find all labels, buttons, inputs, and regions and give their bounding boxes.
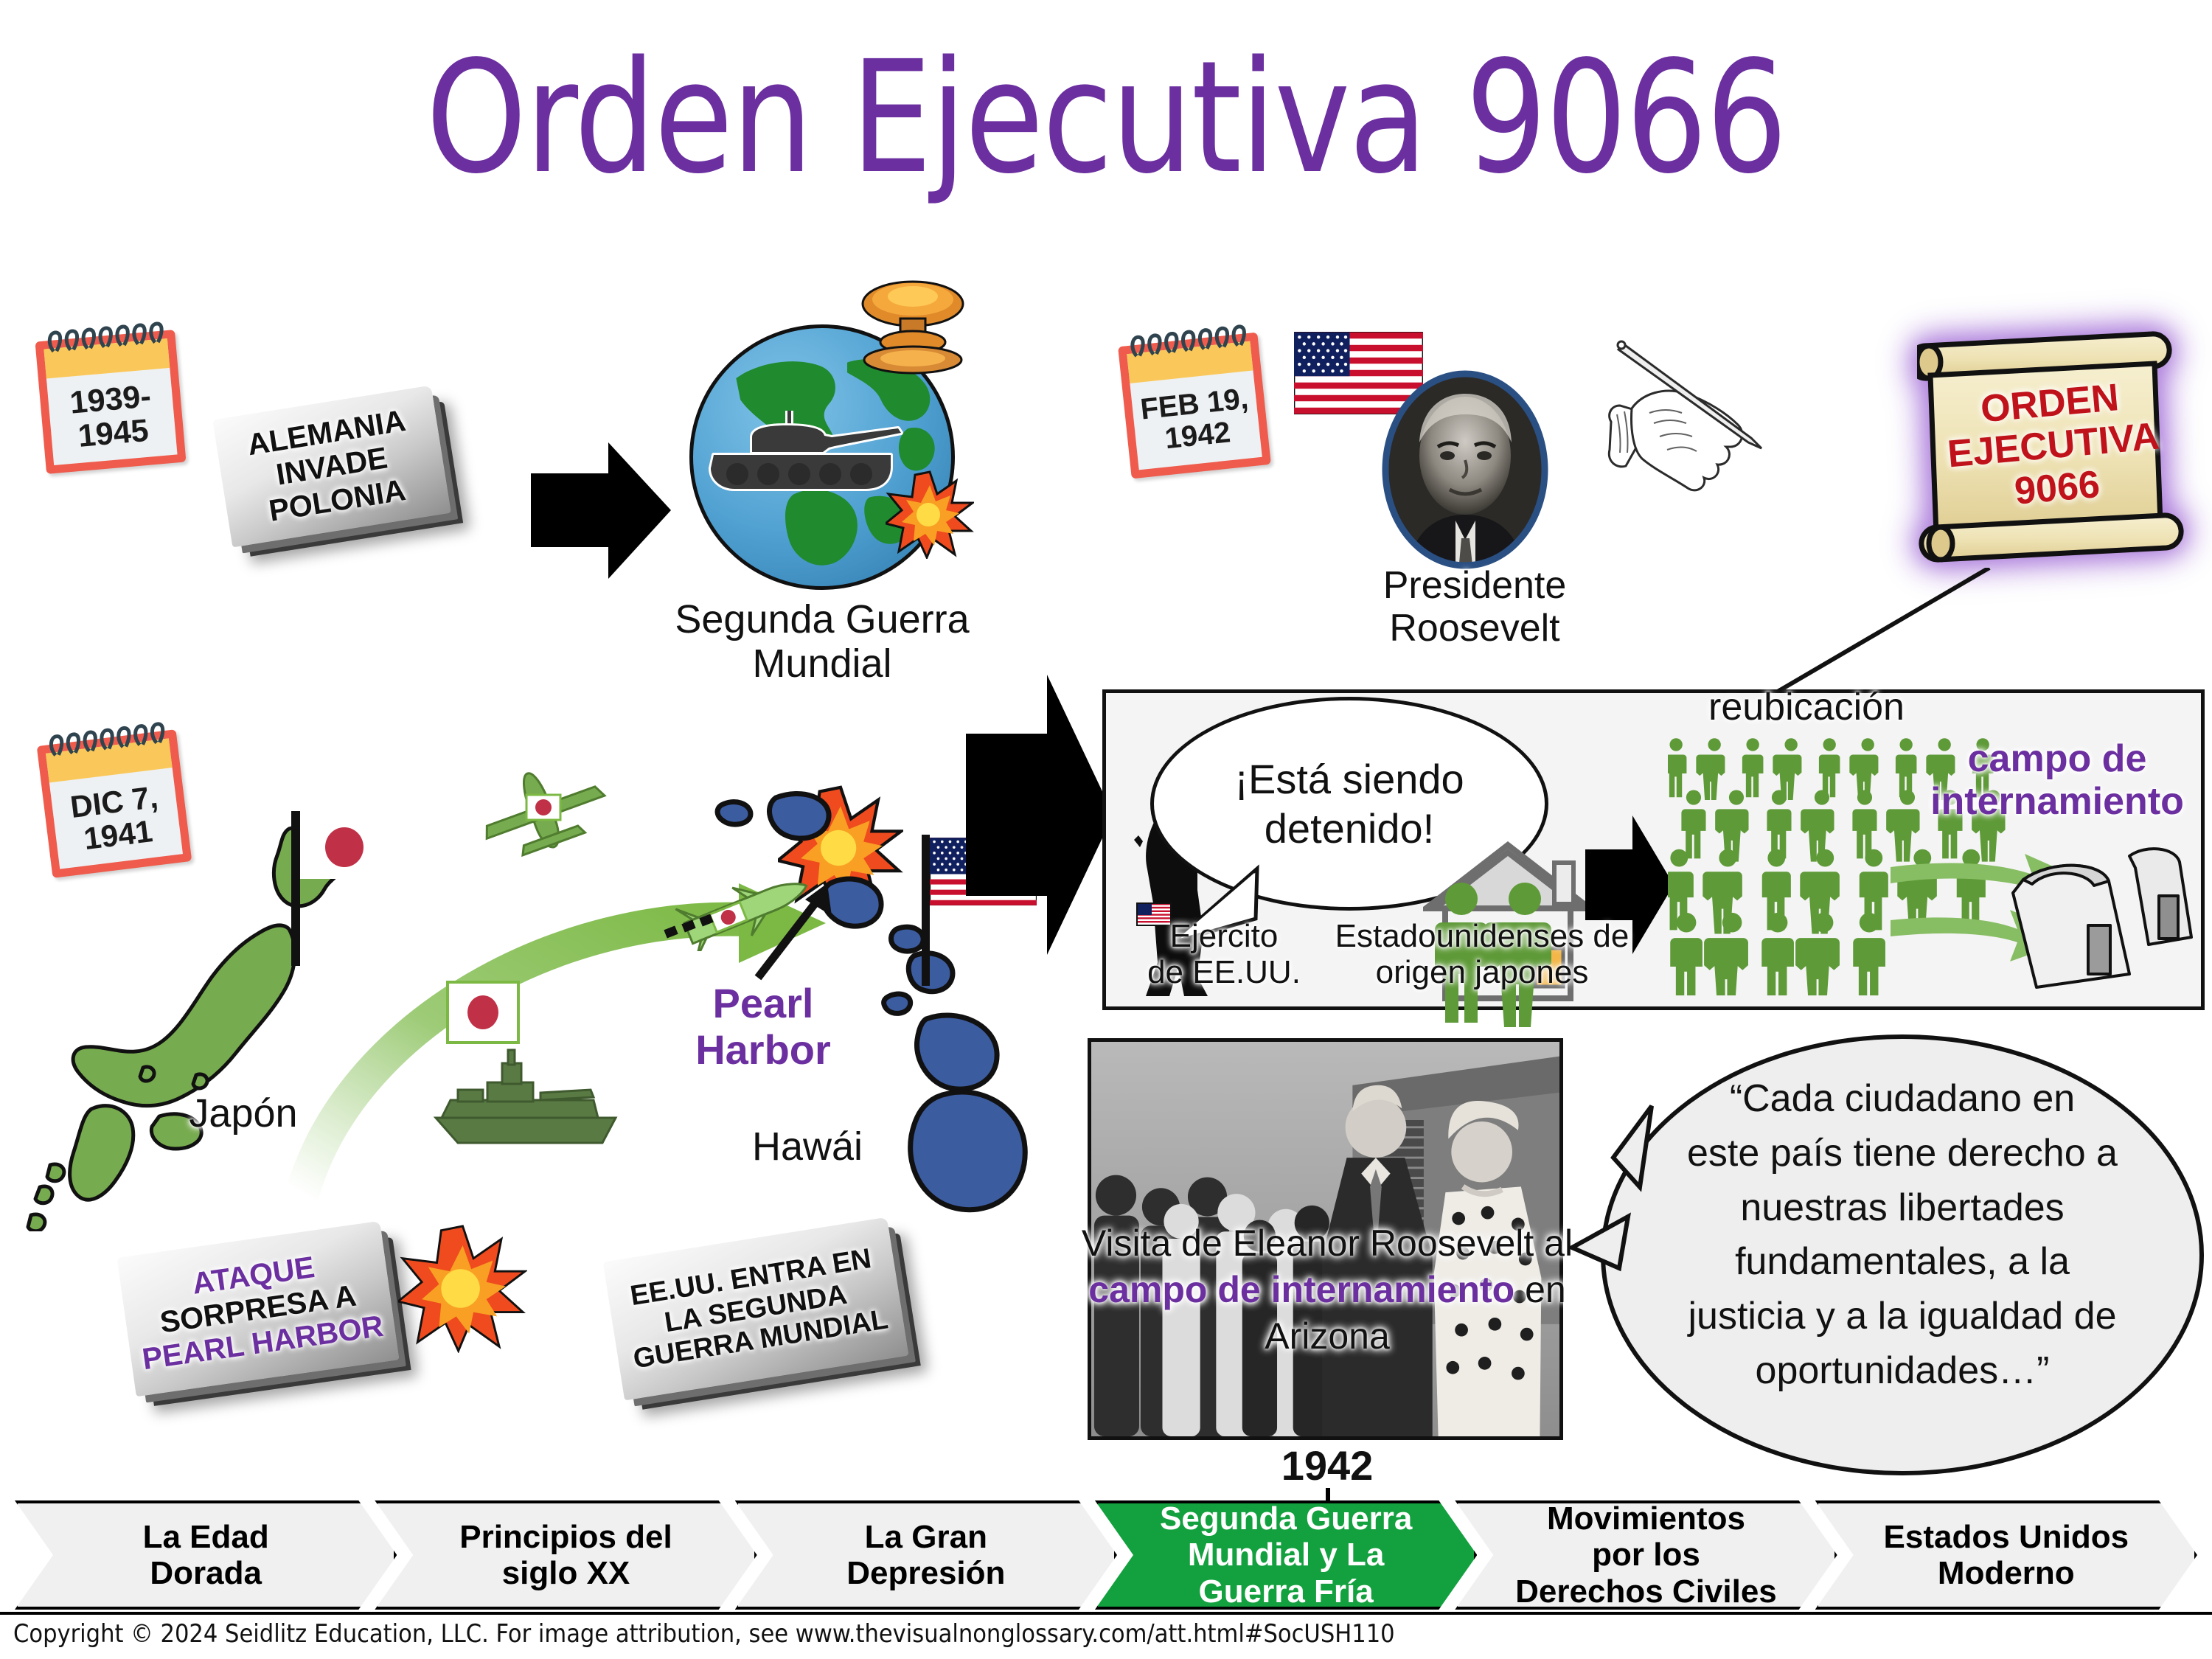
- warship-icon: [431, 1047, 627, 1150]
- label-japanese-americans: Estadounidenses de origen japones: [1287, 918, 1677, 991]
- arrow-right-icon-1: [531, 442, 671, 579]
- timeline-item-ww2-cold-war[interactable]: Segunda Guerra Mundial y La Guerra Fría: [1095, 1500, 1477, 1610]
- president-line2: Roosevelt: [1327, 607, 1622, 650]
- quote-line4: fundamentales, a la: [1640, 1235, 2165, 1290]
- quote-bubble: “Cada ciudadano en este país tiene derec…: [1569, 1032, 2209, 1482]
- calendar-executive-order: FEB 19, 1942: [1118, 333, 1271, 479]
- label-world-war-two: Segunda Guerra Mundial: [638, 597, 1006, 686]
- caption-line1: Visita de Eleanor Roosevelt al: [995, 1220, 1659, 1267]
- pearl-line2: Harbor: [641, 1027, 885, 1074]
- calendar-ww2-line2: 1945: [77, 414, 150, 454]
- japan-map: [15, 818, 361, 1231]
- timeline-item-gilded-age[interactable]: La Edad Dorada: [15, 1500, 397, 1610]
- label-hawaii: Hawái: [686, 1124, 929, 1169]
- tl5-l2: Moderno: [1938, 1555, 2075, 1591]
- tl4-l2: por los: [1592, 1537, 1700, 1573]
- timeline-item-early-20th-century[interactable]: Principios del siglo XX: [375, 1500, 757, 1610]
- japan-flag-icon: [300, 815, 389, 879]
- timeline-item-modern-us[interactable]: Estados Unidos Moderno: [1815, 1500, 2197, 1610]
- newspaper-pearl-harbor-attack: ATAQUE SORPRESA A PEARL HARBOR: [117, 1221, 400, 1397]
- footer-divider: [0, 1612, 2212, 1615]
- quote-line1: “Cada ciudadano en: [1640, 1072, 2165, 1127]
- tank-icon: [705, 411, 905, 499]
- tl0-l1: La Edad: [143, 1519, 269, 1555]
- label-president-roosevelt: Presidente Roosevelt: [1327, 564, 1622, 650]
- tl2-l1: La Gran: [865, 1519, 987, 1555]
- timeline-item-civil-rights[interactable]: Movimientos por los Derechos Civiles: [1455, 1500, 1837, 1610]
- caption-part2: en: [1514, 1269, 1566, 1310]
- tl3-l1: Segunda Guerra: [1160, 1500, 1412, 1537]
- quote-line2: este país tiene derecho a: [1640, 1127, 2165, 1181]
- calendar-eo-line2: 1942: [1164, 417, 1232, 455]
- japan-label-text: Japón: [118, 1091, 369, 1135]
- eleanor-year: 1942: [1172, 1441, 1482, 1489]
- bubble-line1: ¡Está siendo: [1234, 754, 1464, 804]
- tl3-l2: Mundial y La: [1188, 1537, 1384, 1573]
- relocation-text: reubicación: [1659, 686, 1954, 728]
- explosion-icon-globe: [886, 470, 974, 559]
- calendar-ww2: 1939- 1945: [35, 330, 187, 474]
- civilians-line2: origen japones: [1287, 954, 1677, 990]
- internment-camp-barracks-icon: [1991, 822, 2197, 992]
- roosevelt-portrait: [1379, 369, 1552, 571]
- caption-line3: Arizona: [995, 1313, 1659, 1360]
- airplane-icon: [472, 759, 619, 870]
- tl1-l2: siglo XX: [502, 1555, 630, 1591]
- president-line1: Presidente: [1327, 564, 1622, 607]
- explosion-icon-newspaper: [398, 1224, 527, 1353]
- scroll-line3: 9066: [2013, 463, 2101, 512]
- caption-highlight: campo de internamiento: [1088, 1269, 1514, 1310]
- quote-line6: oportunidades…”: [1640, 1344, 2165, 1399]
- tl1-l1: Principios del: [459, 1519, 672, 1555]
- newspaper-germany-invades-poland: ALEMANIA INVADE POLONIA: [212, 386, 451, 548]
- pointer-arrow-pearl-harbor: [745, 870, 841, 981]
- label-pearl-harbor: Pearl Harbor: [641, 981, 885, 1073]
- tl4-l1: Movimientos: [1547, 1500, 1745, 1537]
- label-internment-camp: campo de internamiento: [1902, 737, 2212, 823]
- arrow-right-icon-2: [966, 667, 1113, 962]
- page-title: Orden Ejecutiva 9066: [88, 41, 2124, 195]
- globe-ww2: [689, 324, 955, 590]
- pearl-line1: Pearl: [641, 981, 885, 1027]
- quote-line5: justicia y a la igualdad de: [1640, 1290, 2165, 1344]
- newspaper-us-enters-ww2: EE.UU. ENTRA EN LA SEGUNDA GUERRA MUNDIA…: [603, 1217, 909, 1401]
- label-japan: Japón: [118, 1091, 369, 1135]
- tl4-l3: Derechos Civiles: [1515, 1573, 1777, 1610]
- tl3-l3: Guerra Fría: [1199, 1573, 1374, 1610]
- hand-signing-pen-icon: [1596, 332, 1832, 516]
- tl0-l2: Dorada: [150, 1555, 262, 1591]
- label-relocation: reubicación: [1659, 686, 1954, 728]
- civilians-line1: Estadounidenses de: [1287, 918, 1677, 954]
- mushroom-cloud-icon: [858, 280, 968, 383]
- ww2-label-line2: Mundial: [638, 641, 1006, 686]
- eleanor-photo-caption: Visita de Eleanor Roosevelt al campo de …: [995, 1220, 1659, 1360]
- executive-order-scroll: ORDEN EJECUTIVA 9066: [1917, 321, 2190, 571]
- tl5-l1: Estados Unidos: [1884, 1519, 2129, 1555]
- japan-flag-icon-boxed: [446, 981, 520, 1044]
- camp-line2: internamiento: [1902, 780, 2212, 823]
- timeline-item-great-depression[interactable]: La Gran Depresión: [735, 1500, 1117, 1610]
- timeline: La Edad Dorada Principios del siglo XX L…: [15, 1500, 2197, 1610]
- copyright-footer: Copyright © 2024 Seidlitz Education, LLC…: [13, 1619, 1395, 1649]
- quote-line3: nuestras libertades: [1640, 1181, 2165, 1236]
- ww2-label-line1: Segunda Guerra: [638, 597, 1006, 641]
- tl2-l2: Depresión: [846, 1555, 1005, 1591]
- hawaii-label-text: Hawái: [686, 1124, 929, 1169]
- camp-line1: campo de: [1902, 737, 2212, 780]
